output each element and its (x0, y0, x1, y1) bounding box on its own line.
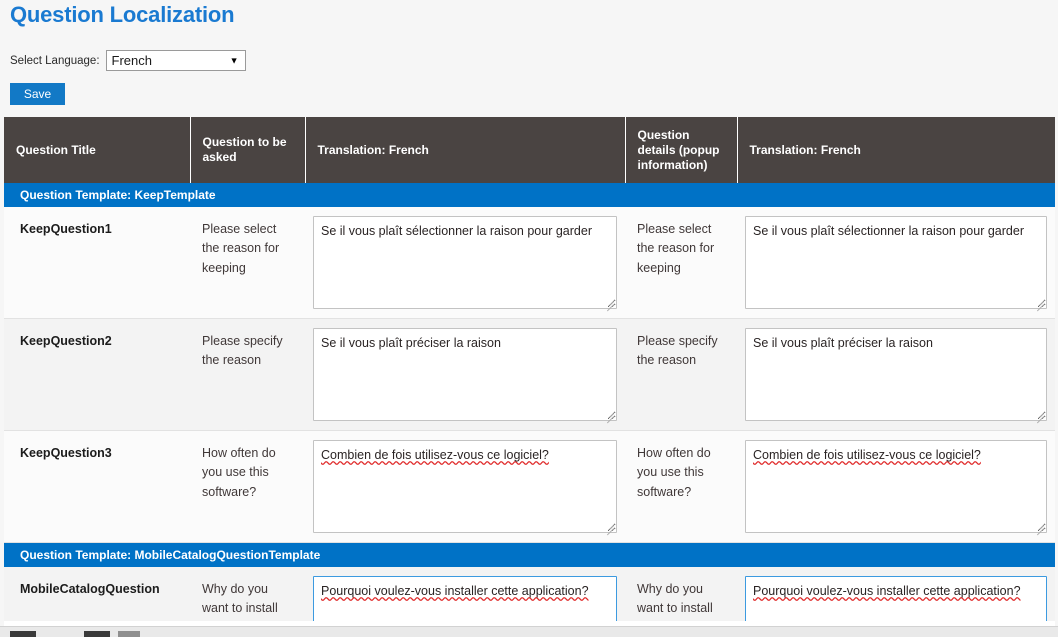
cell-translation-textarea: Se il vous plaît sélectionner la raison … (305, 207, 625, 319)
translation-textarea-wrapper: Se il vous plaît préciser la raison (313, 328, 617, 421)
cell-details-translation-textarea: Se il vous plaît sélectionner la raison … (737, 207, 1055, 319)
cell-translation-textarea: Se il vous plaît préciser la raison (305, 319, 625, 431)
table-header-row: Question Title Question to be asked Tran… (4, 117, 1055, 183)
cell-question-title: KeepQuestion3 (4, 431, 190, 543)
cell-question-to-be-asked: Please select the reason for keeping (190, 207, 305, 319)
column-header-translation-french-1: Translation: French (305, 117, 625, 183)
language-select-value: French (112, 53, 152, 68)
section-header-row: Question Template: MobileCatalogQuestion… (4, 543, 1055, 568)
details-translation-textarea[interactable]: Se il vous plaît sélectionner la raison … (745, 216, 1047, 309)
column-header-translation-french-2: Translation: French (737, 117, 1055, 183)
app-root: Question Localization Select Language: F… (0, 0, 1058, 637)
cell-question-to-be-asked: How often do you use this software? (190, 431, 305, 543)
cell-details-translation-textarea: Combien de fois utilisez-vous ce logicie… (737, 431, 1055, 543)
cell-question-details: Please select the reason for keeping (625, 207, 737, 319)
cell-question-details: Please specify the reason (625, 319, 737, 431)
section-header-label: Question Template: MobileCatalogQuestion… (4, 543, 1055, 568)
column-header-question-to-be-asked: Question to be asked (190, 117, 305, 183)
cell-question-title: KeepQuestion1 (4, 207, 190, 319)
section-header-label: Question Template: KeepTemplate (4, 183, 1055, 207)
details-translation-textarea[interactable]: Se il vous plaît préciser la raison (745, 328, 1047, 421)
details-translation-textarea-wrapper: Combien de fois utilisez-vous ce logicie… (745, 440, 1047, 533)
language-label: Select Language: (10, 55, 100, 67)
question-localization-table: Question Title Question to be asked Tran… (4, 117, 1055, 637)
language-selector-row: Select Language: French ▼ (10, 50, 246, 71)
translation-textarea[interactable]: Se il vous plaît sélectionner la raison … (313, 216, 617, 309)
cell-question-details: How often do you use this software? (625, 431, 737, 543)
column-header-question-title: Question Title (4, 117, 190, 183)
os-taskbar[interactable] (0, 626, 1058, 637)
chevron-down-icon: ▼ (230, 56, 239, 65)
save-button[interactable]: Save (10, 83, 65, 105)
table-row: KeepQuestion2Please specify the reasonSe… (4, 319, 1055, 431)
section-header-row: Question Template: KeepTemplate (4, 183, 1055, 207)
table-body: Question Template: KeepTemplateKeepQuest… (4, 183, 1055, 637)
details-translation-textarea[interactable]: Combien de fois utilisez-vous ce logicie… (745, 440, 1047, 533)
details-translation-textarea-wrapper: Se il vous plaît sélectionner la raison … (745, 216, 1047, 309)
column-header-question-details: Question details (popup information) (625, 117, 737, 183)
table-row: KeepQuestion3How often do you use this s… (4, 431, 1055, 543)
translation-textarea-wrapper: Se il vous plaît sélectionner la raison … (313, 216, 617, 309)
table-row: KeepQuestion1Please select the reason fo… (4, 207, 1055, 319)
translation-textarea-wrapper: Combien de fois utilisez-vous ce logicie… (313, 440, 617, 533)
page-title: Question Localization (10, 2, 234, 28)
details-translation-textarea-wrapper: Se il vous plaît préciser la raison (745, 328, 1047, 421)
taskbar-icon-3[interactable] (118, 631, 140, 637)
table-header: Question Title Question to be asked Tran… (4, 117, 1055, 183)
cell-question-to-be-asked: Please specify the reason (190, 319, 305, 431)
translation-textarea[interactable]: Combien de fois utilisez-vous ce logicie… (313, 440, 617, 533)
cell-translation-textarea: Combien de fois utilisez-vous ce logicie… (305, 431, 625, 543)
taskbar-icon-1[interactable] (10, 631, 36, 637)
language-select[interactable]: French ▼ (106, 50, 246, 71)
taskbar-icon-2[interactable] (84, 631, 110, 637)
cell-question-title: KeepQuestion2 (4, 319, 190, 431)
translation-textarea[interactable]: Se il vous plaît préciser la raison (313, 328, 617, 421)
cell-details-translation-textarea: Se il vous plaît préciser la raison (737, 319, 1055, 431)
